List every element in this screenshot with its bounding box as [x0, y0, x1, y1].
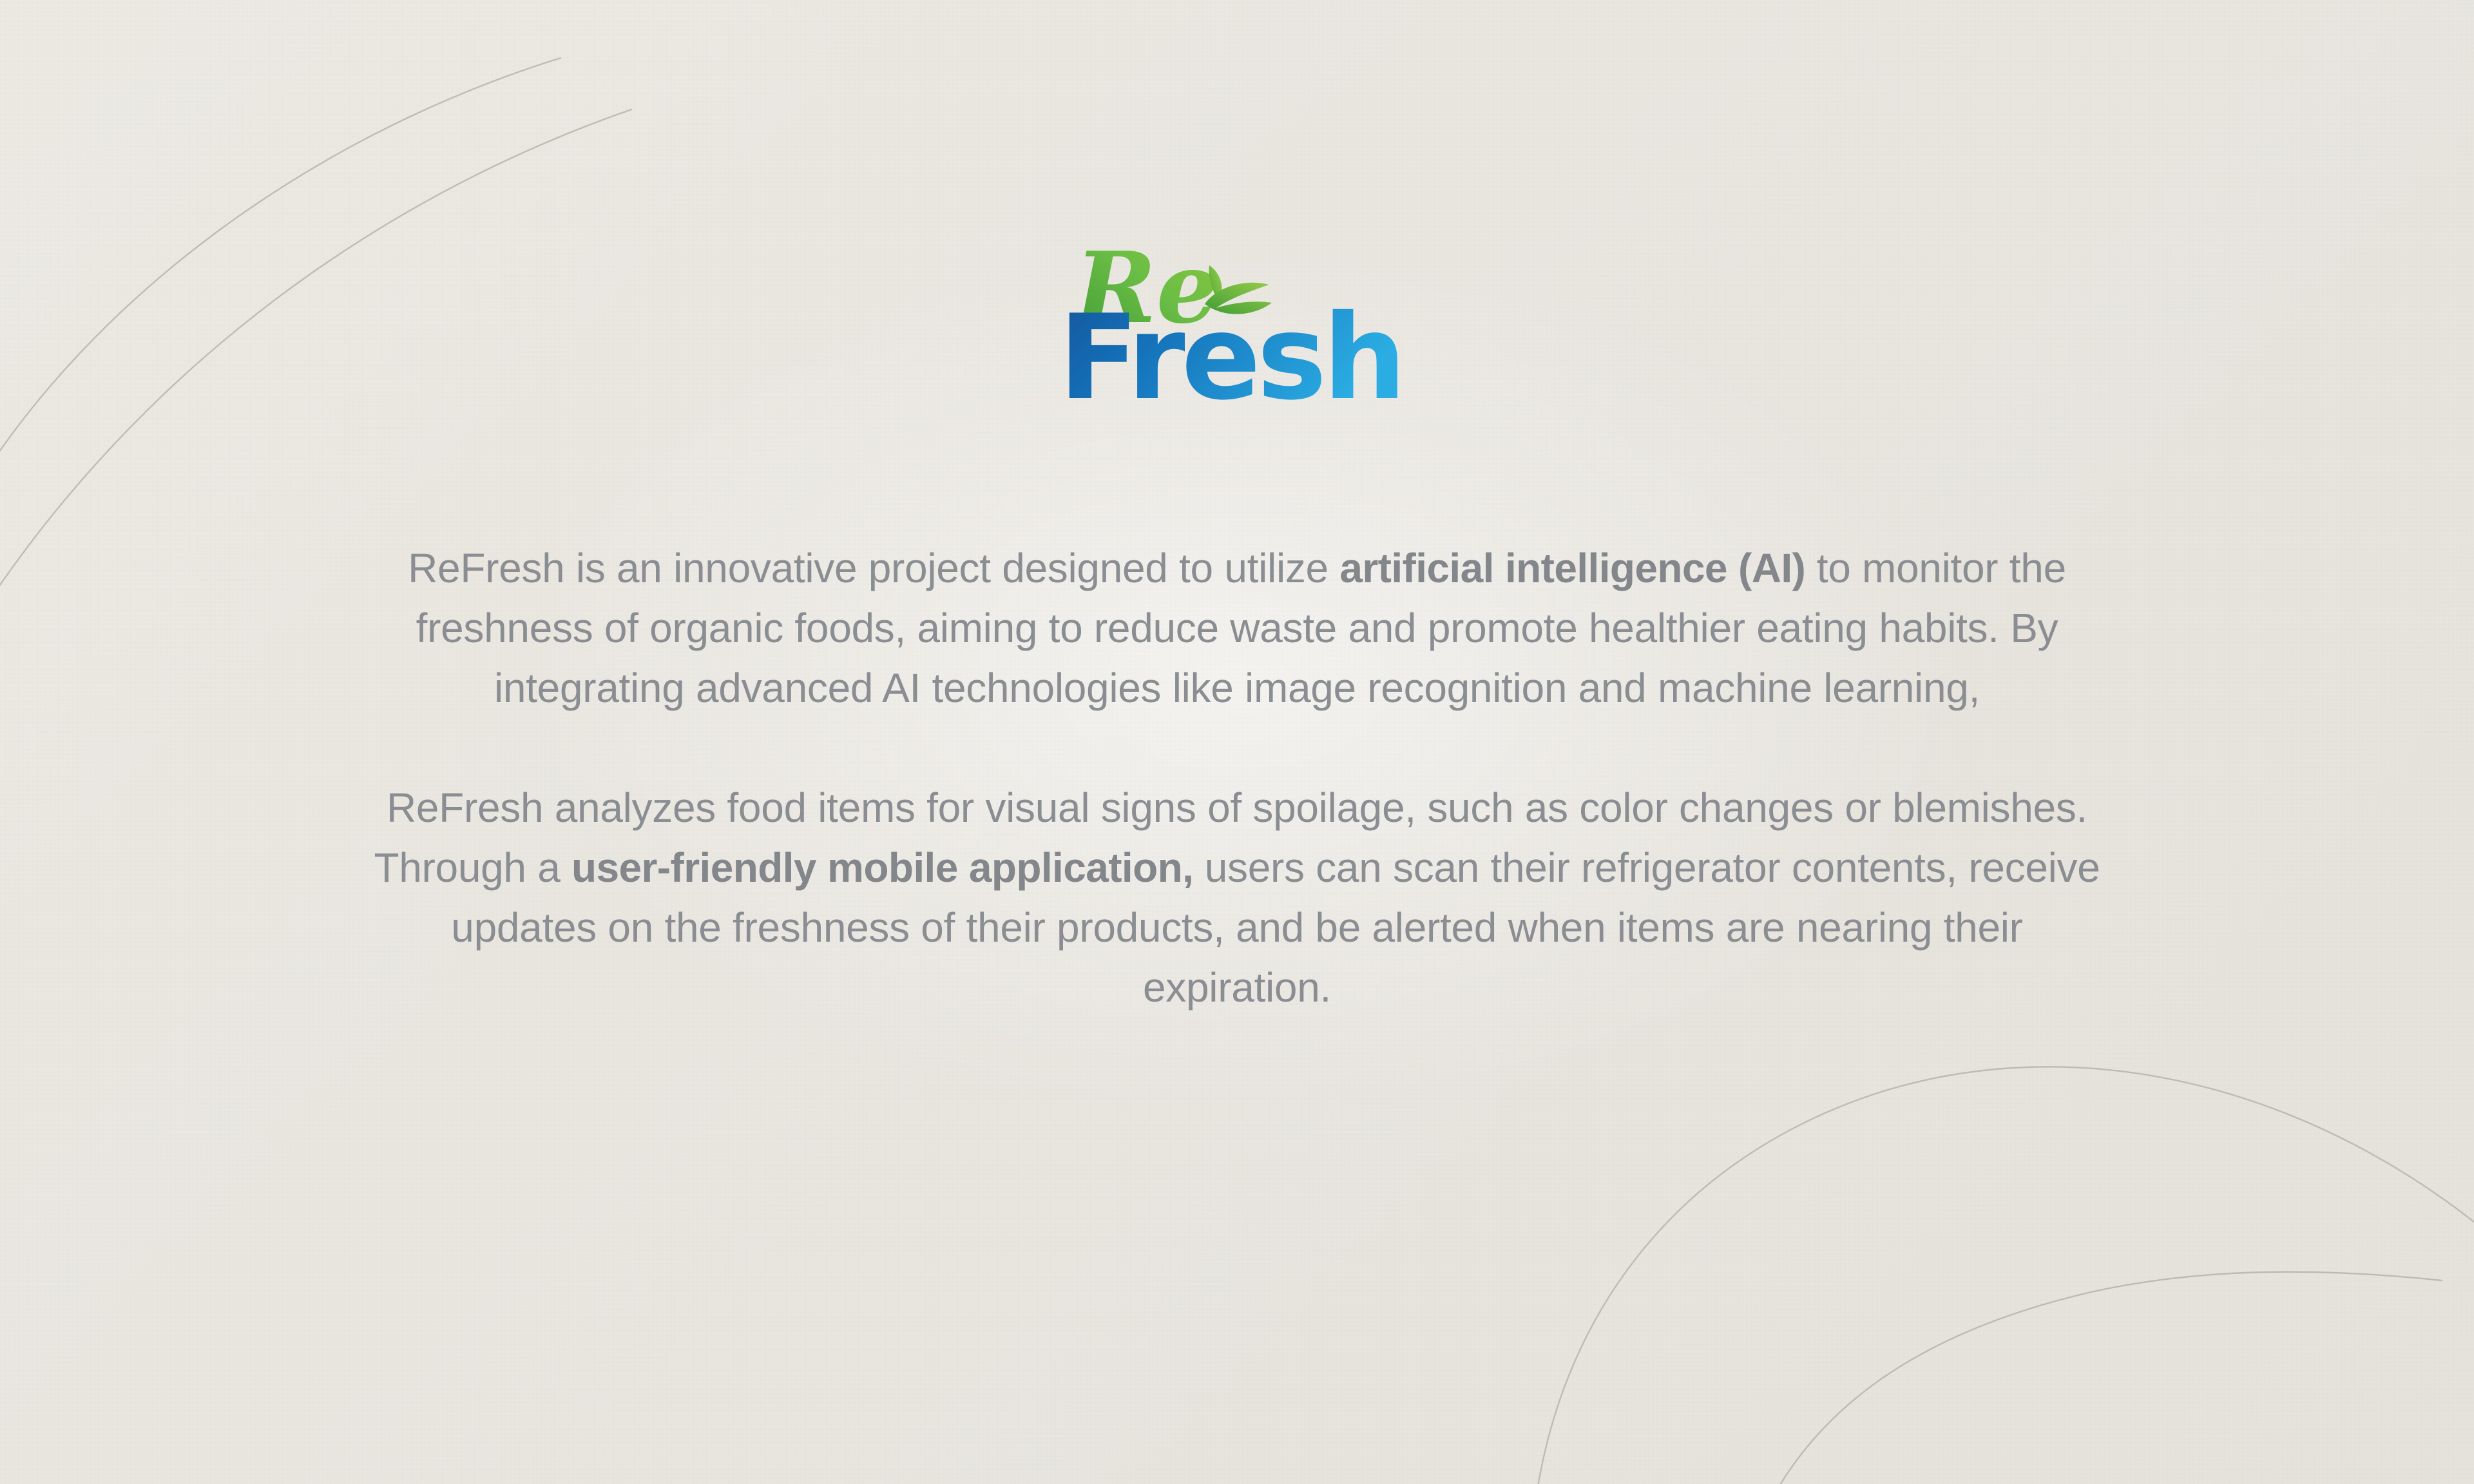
logo-word-fresh: Fresh	[1059, 289, 1403, 426]
paragraph-2: ReFresh analyzes food items for visual s…	[361, 778, 2113, 1018]
emphasis-run-1: artificial intelligence (AI)	[1339, 545, 1805, 591]
bottom-right-arc-large	[1537, 1067, 2474, 1484]
paragraph-1: ReFresh is an innovative project designe…	[361, 538, 2113, 718]
body-copy: ReFresh is an innovative project designe…	[361, 538, 2113, 1018]
logo-container: Re Fresh	[0, 232, 2474, 438]
slide-canvas: Re Fresh ReFresh is an innovative projec…	[0, 0, 2474, 1484]
emphasis-run-1: user-friendly mobile application,	[571, 844, 1193, 891]
refresh-logo: Re Fresh	[1057, 232, 1417, 438]
svg-text:Fresh: Fresh	[1059, 289, 1403, 426]
paragraph-spacer	[361, 718, 2113, 778]
bottom-right-arc-small	[1778, 1272, 2442, 1484]
text-run-0: ReFresh is an innovative project designe…	[408, 545, 1339, 591]
